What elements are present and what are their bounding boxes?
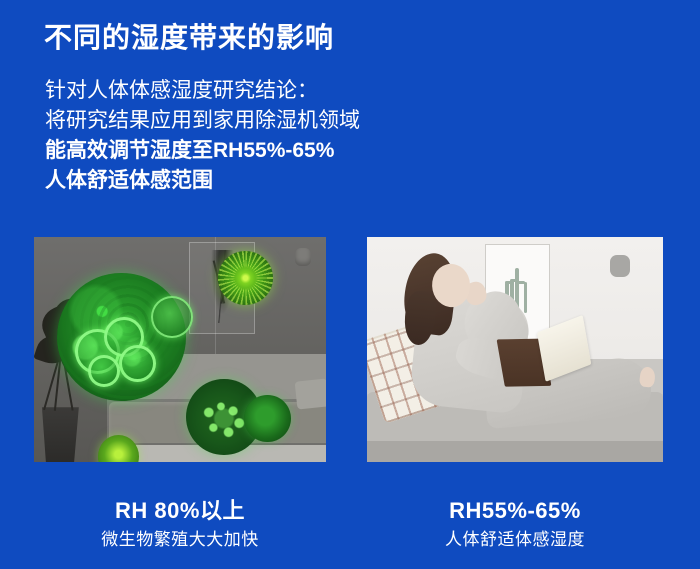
caption-subtitle: 人体舒适体感湿度 [367,528,663,552]
wall-knob-icon [610,255,630,277]
body-line-2: 将研究结果应用到家用除湿机领域 [45,106,360,136]
photo-high-humidity [34,237,326,462]
caption-title: RH 80%以上 [34,498,326,524]
wall-knob-icon [295,248,311,266]
plant-pot [40,407,79,462]
body-line-4: 人体舒适体感范围 [45,166,360,196]
caption-subtitle: 微生物繁殖大大加快 [34,528,326,552]
sofa-base [367,441,663,462]
germ-small-icon [151,296,193,338]
caption-high-humidity: RH 80%以上 微生物繁殖大大加快 [34,498,326,552]
photo-comfort-humidity [367,237,663,462]
body-copy: 针对人体体感湿度研究结论： 将研究结果应用到家用除湿机领域 能高效调节湿度至RH… [45,76,360,196]
body-line-3: 能高效调节湿度至RH55%-65% [45,136,360,166]
germ-blob-icon [119,345,156,382]
body-line-3-prefix: 能高效调节湿度至 [45,139,213,162]
page-title: 不同的湿度带来的影响 [44,16,334,56]
caption-comfort-humidity: RH55%-65% 人体舒适体感湿度 [367,498,663,552]
cactus-arm [505,281,511,285]
cactus-arm [517,281,524,285]
dark-room-scene [34,237,326,462]
germ-blob-icon [88,355,120,387]
poster-root: 不同的湿度带来的影响 针对人体体感湿度研究结论： 将研究结果应用到家用除湿机领域… [0,0,700,569]
germ-spiky-icon [218,251,273,305]
caption-title: RH55%-65% [367,498,663,524]
body-line-1: 针对人体体感湿度研究结论： [45,76,360,106]
cactus-arm [524,282,528,313]
body-line-3-highlight: RH55%-65% [213,139,334,162]
sofa-cushion [295,378,326,409]
germ-plain-icon [244,395,291,442]
light-room-scene [367,237,663,462]
